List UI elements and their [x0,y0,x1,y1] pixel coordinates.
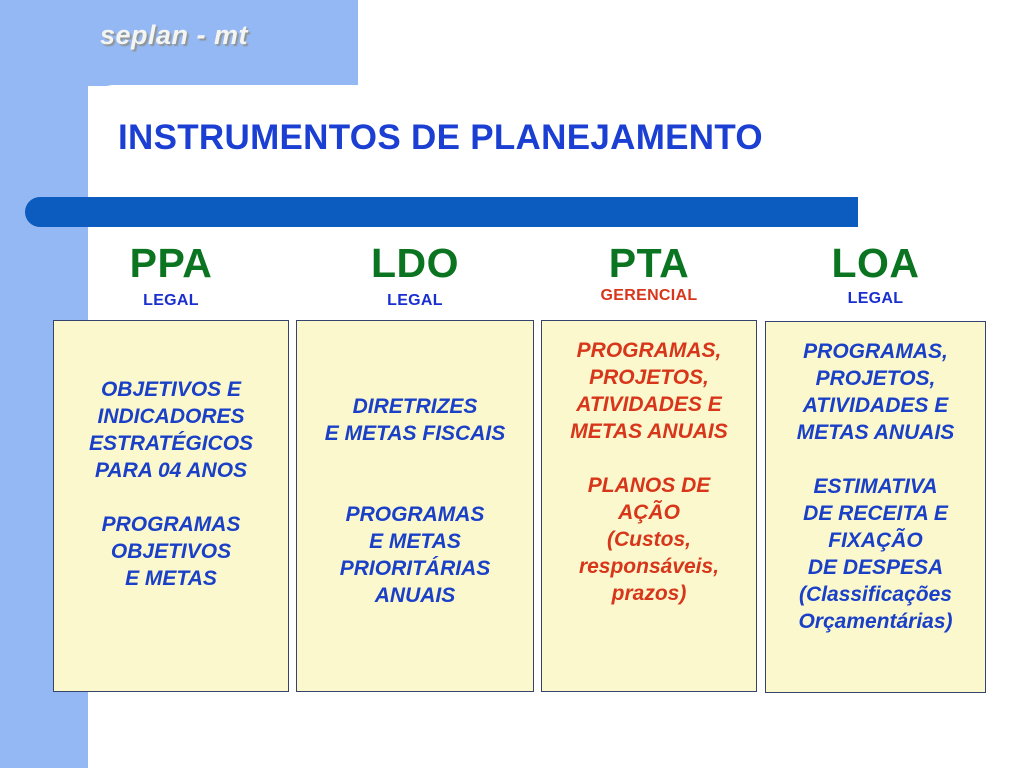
content-text-loa: PROGRAMAS, PROJETOS, ATIVIDADES E METAS … [772,338,979,635]
content-text-pta: PROGRAMAS, PROJETOS, ATIVIDADES E METAS … [548,337,750,607]
content-text-ldo: DIRETRIZES E METAS FISCAIS PROGRAMAS E M… [303,393,527,609]
column-heading-ldo: LDO [296,240,534,286]
column-pta: PTA GERENCIAL PROGRAMAS, PROJETOS, ATIVI… [541,240,757,692]
slide-canvas: seplan - mt INSTRUMENTOS DE PLANEJAMENTO… [0,0,1024,768]
column-ppa: PPA LEGAL OBJETIVOS E INDICADORES ESTRAT… [53,240,289,692]
seplan-logo-text: seplan - mt [100,20,248,51]
column-heading-ppa: PPA [53,240,289,286]
content-text-ppa: OBJETIVOS E INDICADORES ESTRATÉGICOS PAR… [60,376,282,592]
content-box-loa: PROGRAMAS, PROJETOS, ATIVIDADES E METAS … [765,321,986,693]
content-box-ppa: OBJETIVOS E INDICADORES ESTRATÉGICOS PAR… [53,320,289,692]
column-ldo: LDO LEGAL DIRETRIZES E METAS FISCAIS PRO… [296,240,534,692]
column-subtitle-ldo: LEGAL [296,291,534,311]
column-subtitle-ppa: LEGAL [53,291,289,311]
page-title: INSTRUMENTOS DE PLANEJAMENTO [118,118,978,158]
column-subtitle-loa: LEGAL [765,289,986,309]
column-heading-pta: PTA [541,240,757,286]
column-loa: LOA LEGAL PROGRAMAS, PROJETOS, ATIVIDADE… [765,240,986,693]
column-subtitle-pta: GERENCIAL [541,286,757,306]
column-heading-loa: LOA [765,240,986,286]
title-rule-bar [25,197,858,227]
content-box-ldo: DIRETRIZES E METAS FISCAIS PROGRAMAS E M… [296,320,534,692]
instruments-columns: PPA LEGAL OBJETIVOS E INDICADORES ESTRAT… [0,240,1024,710]
content-box-pta: PROGRAMAS, PROJETOS, ATIVIDADES E METAS … [541,320,757,692]
